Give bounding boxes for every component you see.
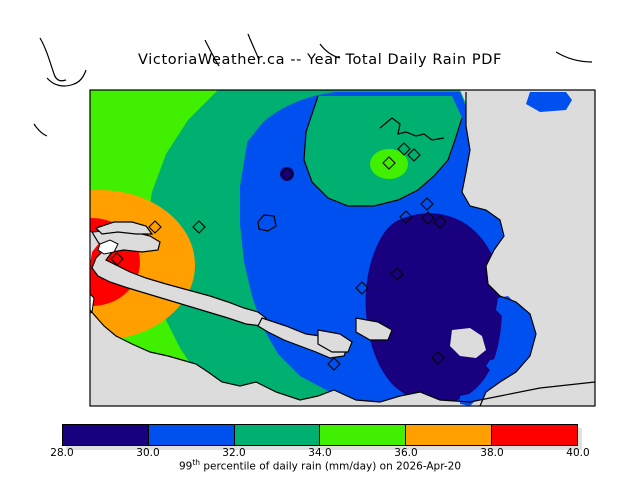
band-28-30-spot	[280, 167, 294, 181]
caption-superscript: th	[192, 458, 200, 467]
colorbar	[62, 424, 578, 446]
colorbar-caption: 99th percentile of daily rain (mm/day) o…	[0, 458, 640, 473]
caption-prefix: 99	[179, 461, 192, 473]
band-28-30	[366, 213, 502, 403]
colorbar-segment-32.0-34.0	[235, 425, 321, 445]
inlet-west-2	[44, 288, 94, 320]
colorbar-segment-36.0-38.0	[406, 425, 492, 445]
colorbar-segment-28.0-30.0	[63, 425, 149, 445]
colorbar-segment-34.0-36.0	[320, 425, 406, 445]
page-root: VictoriaWeather.ca -- Year Total Daily R…	[0, 0, 640, 480]
colorbar-segment-38.0-40.0	[492, 425, 577, 445]
colorbar-strip	[62, 424, 578, 446]
plot-area	[5, 90, 595, 406]
inlet-west	[30, 236, 88, 286]
caption-rest: percentile of daily rain (mm/day) on 202…	[200, 461, 461, 473]
rain-contour-map	[0, 0, 640, 480]
colorbar-segment-30.0-32.0	[149, 425, 235, 445]
